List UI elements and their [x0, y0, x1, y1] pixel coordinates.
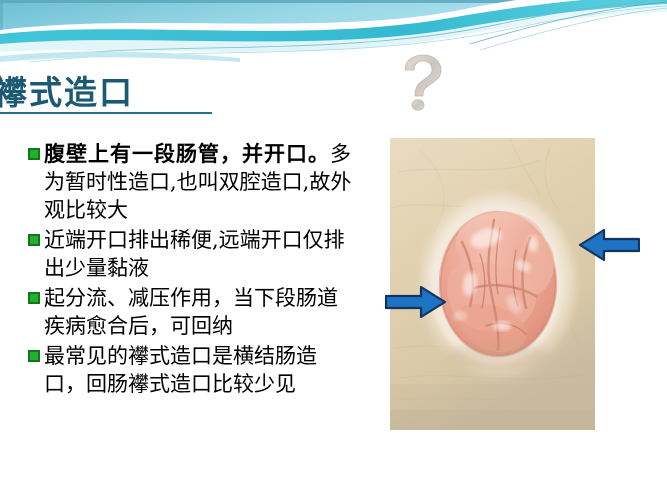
title-underline	[0, 112, 212, 114]
list-item: 起分流、减压作用，当下段肠道疾病愈合后，可回纳	[28, 284, 358, 340]
list-item: 腹壁上有一段肠管，并开口。多为暂时性造口,也叫双腔造口,故外观比较大	[28, 140, 358, 224]
list-item-lead: 腹壁上有一段肠管，并开口。	[44, 142, 330, 166]
list-item: 近端开口排出稀便,远端开口仅排出少量黏液	[28, 226, 358, 282]
square-bullet-icon	[28, 148, 40, 160]
square-bullet-icon	[28, 292, 40, 304]
list-item-text: 最常见的襻式造口是横结肠造口，回肠襻式造口比较少见	[44, 342, 358, 398]
square-bullet-icon	[28, 234, 40, 246]
list-item-text: 起分流、减压作用，当下段肠道疾病愈合后，可回纳	[44, 284, 358, 340]
list-item-rest: 近端开口排出稀便,远端开口仅排出少量黏液	[44, 228, 345, 280]
list-item-text: 近端开口排出稀便,远端开口仅排出少量黏液	[44, 226, 358, 282]
list-item-rest: 最常见的襻式造口是横结肠造口，回肠襻式造口比较少见	[44, 344, 317, 396]
square-bullet-icon	[28, 350, 40, 362]
bullet-list: 腹壁上有一段肠管，并开口。多为暂时性造口,也叫双腔造口,故外观比较大 近端开口排…	[28, 140, 358, 400]
list-item: 最常见的襻式造口是横结肠造口，回肠襻式造口比较少见	[28, 342, 358, 398]
page-title: 襻式造口	[0, 74, 224, 114]
loop-stoma-clinical-photo	[390, 138, 595, 430]
question-mark-icon	[392, 54, 452, 112]
list-item-text: 腹壁上有一段肠管，并开口。多为暂时性造口,也叫双腔造口,故外观比较大	[44, 140, 358, 224]
slide-canvas: 襻式造口 腹壁上有一段肠管，并开口。多为暂时性造口,也叫双腔造口,故外观比较大 …	[0, 0, 667, 500]
list-item-rest: 起分流、减压作用，当下段肠道疾病愈合后，可回纳	[44, 286, 338, 338]
arrow-pointing-left-at-stoma	[578, 228, 640, 262]
arrow-pointing-right-at-stoma	[385, 285, 447, 319]
decorative-wave-banner	[0, 0, 667, 72]
